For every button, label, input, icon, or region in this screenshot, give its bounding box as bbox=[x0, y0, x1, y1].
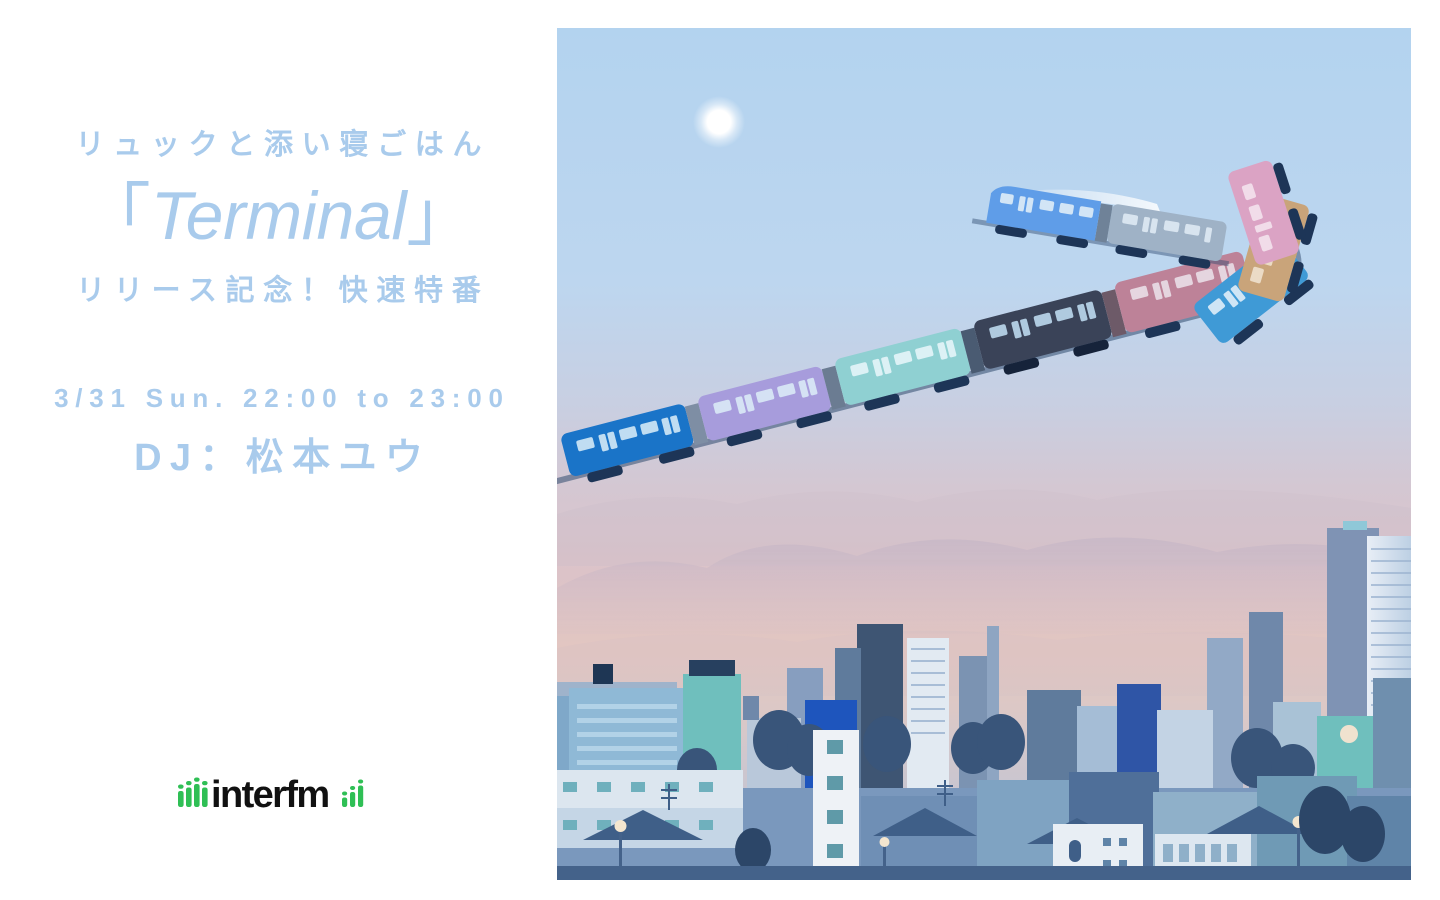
svg-text:interfm: interfm bbox=[211, 774, 329, 808]
program-title: 「Terminal」 bbox=[0, 181, 557, 252]
dj-credit: DJ：松本ユウ bbox=[0, 436, 557, 482]
interfm-logo: interfm bbox=[178, 772, 374, 808]
logo-left-bars bbox=[178, 778, 208, 808]
poster-root: リュックと添い寝ごはん 「Terminal」 リリース記念！快速特番 3/31 … bbox=[0, 0, 1440, 900]
title-close-bracket: 」 bbox=[406, 178, 474, 254]
logo-right-bars bbox=[342, 780, 363, 808]
title-open-bracket: 「 bbox=[83, 178, 151, 254]
logo-wordmark: interfm bbox=[211, 774, 329, 808]
moon-icon bbox=[693, 96, 745, 148]
artwork-illustration bbox=[557, 28, 1411, 880]
text-stack: リュックと添い寝ごはん 「Terminal」 リリース記念！快速特番 3/31 … bbox=[0, 128, 557, 482]
broadcast-datetime: 3/31 Sun. 22:00 to 23:00 bbox=[0, 383, 557, 414]
artist-name: リュックと添い寝ごはん bbox=[0, 128, 557, 163]
program-subtitle: リリース記念！快速特番 bbox=[0, 274, 557, 309]
title-text: Terminal bbox=[151, 178, 407, 254]
left-text-panel: リュックと添い寝ごはん 「Terminal」 リリース記念！快速特番 3/31 … bbox=[0, 0, 557, 900]
